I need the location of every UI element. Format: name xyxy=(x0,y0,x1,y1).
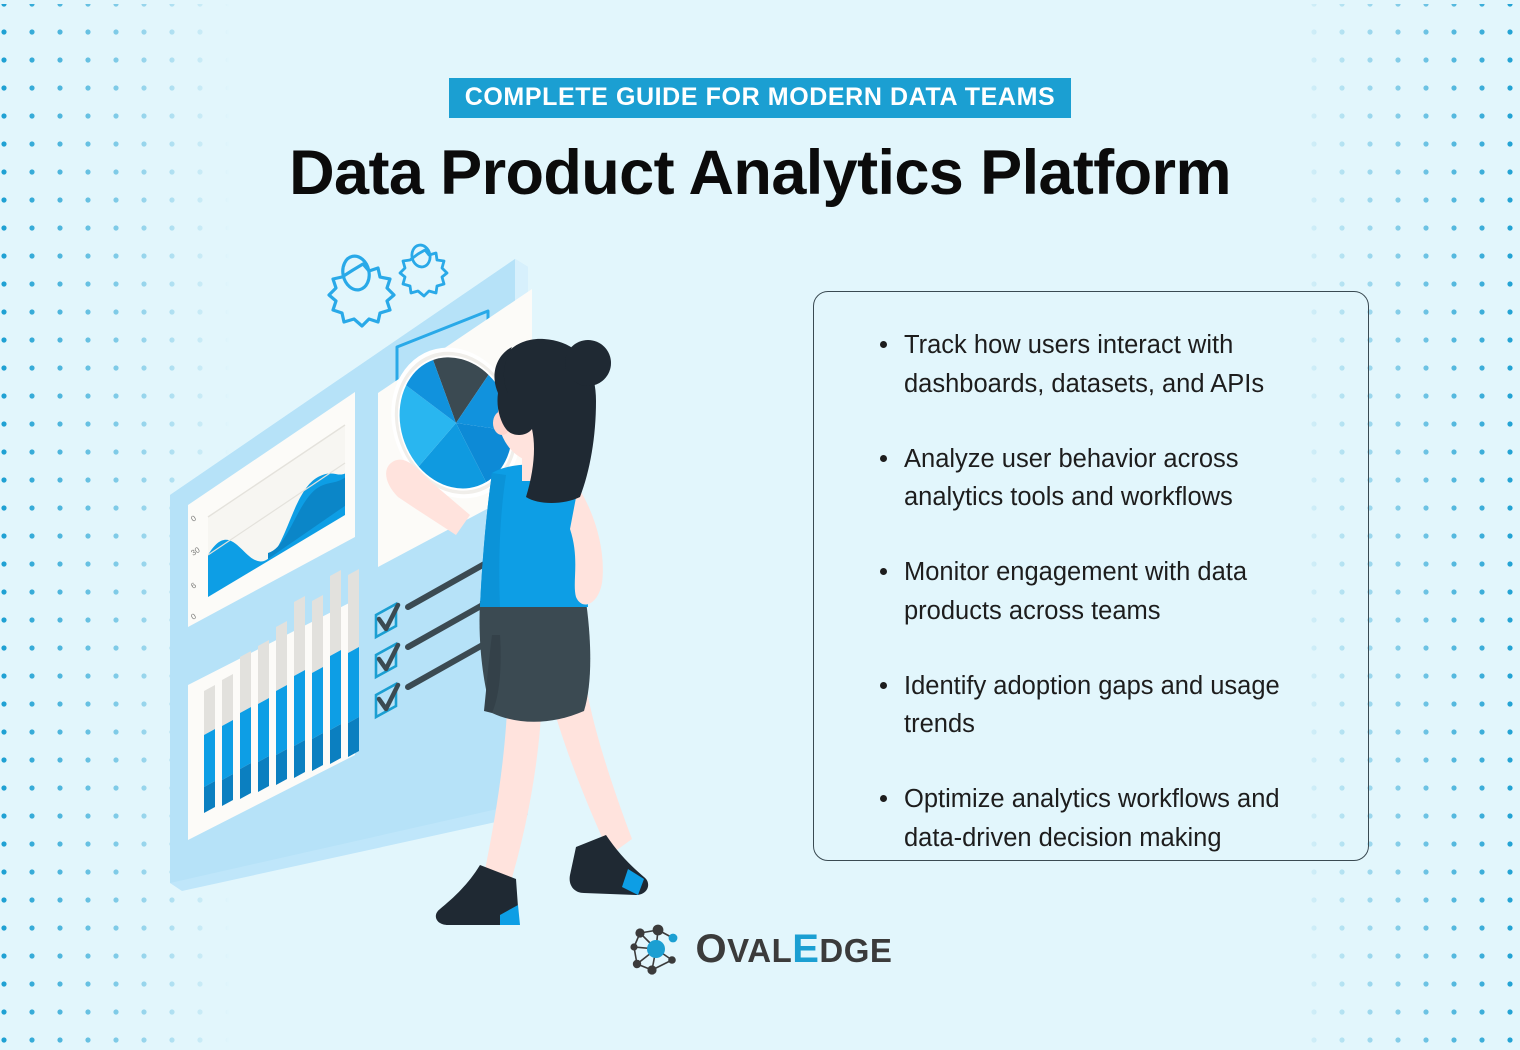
brand-footer: OVALEDGE xyxy=(0,922,1520,976)
logo-letters-dge: DGE xyxy=(819,932,892,969)
key-capabilities-card: Track how users interact with dashboards… xyxy=(813,291,1369,861)
logo-letters-val: VAL xyxy=(727,932,792,969)
list-item: Optimize analytics workflows and data-dr… xyxy=(896,780,1328,858)
gear-small-icon xyxy=(400,243,447,296)
bullet-list: Track how users interact with dashboards… xyxy=(872,326,1328,858)
list-item: Analyze user behavior across analytics t… xyxy=(896,440,1328,518)
analytics-illustration: 0 30 6 0 xyxy=(140,215,700,945)
list-item: Track how users interact with dashboards… xyxy=(896,326,1328,404)
list-item: Identify adoption gaps and usage trends xyxy=(896,667,1328,745)
logo-letter-e: E xyxy=(792,927,819,971)
network-graph-icon xyxy=(628,922,684,976)
shoe-right xyxy=(570,835,649,895)
page-title: Data Product Analytics Platform xyxy=(0,140,1520,206)
list-item: Monitor engagement with data products ac… xyxy=(896,553,1328,631)
brand-wordmark: OVALEDGE xyxy=(696,929,893,969)
eyebrow-badge: COMPLETE GUIDE FOR MODERN DATA TEAMS xyxy=(449,78,1072,118)
logo-letter-o: O xyxy=(696,927,728,971)
header: COMPLETE GUIDE FOR MODERN DATA TEAMS Dat… xyxy=(0,0,1520,248)
gear-large-icon xyxy=(329,254,394,326)
